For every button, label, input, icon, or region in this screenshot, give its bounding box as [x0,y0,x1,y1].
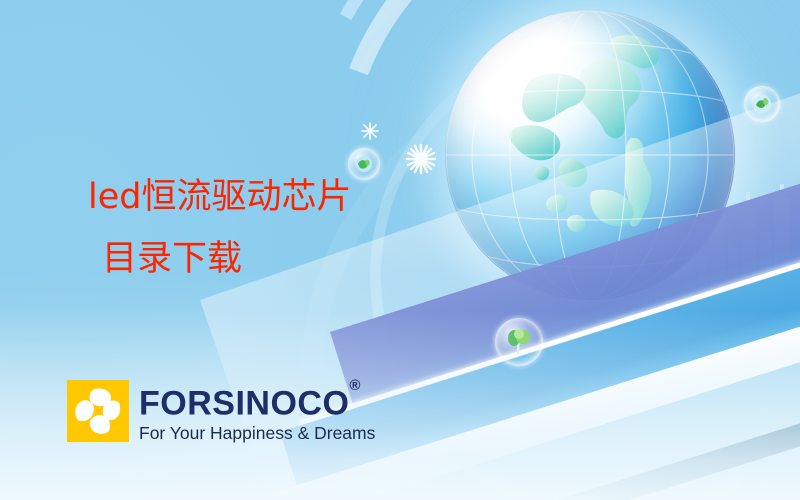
mini-globe-icon [752,94,772,114]
headline-line-1: led恒流驱动芯片 [88,166,351,228]
logo-wordmark: FORSINOCO® [139,381,375,420]
headline-line-2: 目录下载 [88,228,351,290]
logo-tagline: For Your Happiness & Dreams [139,423,375,443]
headline: led恒流驱动芯片 目录下载 [88,166,351,290]
logo-wordmark-text: FORSINOCO [139,384,349,422]
logo-text-block: FORSINOCO® For Your Happiness & Dreams [139,380,375,443]
snowflake-sparkle-large [404,142,438,176]
mini-globe-icon [355,155,373,173]
bubble-globe-right [744,86,780,122]
four-petal-pinwheel-icon [67,380,129,442]
green-tree-icon [506,328,532,356]
registered-trademark-icon: ® [349,377,361,394]
company-logo: FORSINOCO® For Your Happiness & Dreams [67,380,375,443]
slide-canvas: led恒流驱动芯片 目录下载 FORSINOCO® For Your Happi… [0,0,800,500]
bubble-tree-bottom [495,318,543,366]
bubble-globe-left [348,148,380,180]
snowflake-sparkle-small [360,121,380,141]
